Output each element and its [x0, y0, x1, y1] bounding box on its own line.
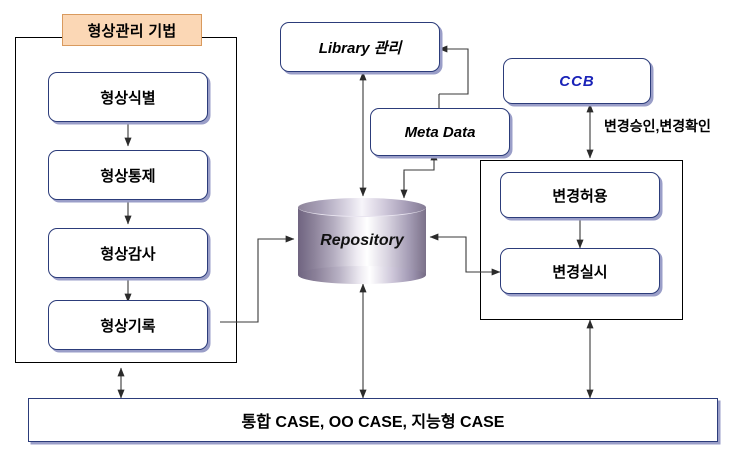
step-box-audit[interactable]: 형상감사 — [48, 228, 208, 278]
meta-data-label: Meta Data — [405, 124, 476, 141]
case-tools-label: 통합 CASE, OO CASE, 지능형 CASE — [242, 408, 505, 432]
change-step-label: 변경실시 — [552, 261, 607, 282]
step-label: 형상통제 — [100, 165, 155, 186]
change-allow-box[interactable]: 변경허용 — [500, 172, 660, 218]
meta-data-box[interactable]: Meta Data — [370, 108, 510, 156]
step-box-identify[interactable]: 형상식별 — [48, 72, 208, 122]
library-label: Library 관리 — [319, 37, 402, 58]
group-title-label: 형상관리 기법 — [87, 20, 176, 41]
repository-cylinder[interactable]: Repository — [298, 198, 426, 284]
step-label: 형상식별 — [100, 87, 155, 108]
arrow-metadata-to-library — [439, 49, 468, 94]
ccb-edge-label: 변경승인,변경확인 — [604, 116, 711, 136]
ccb-box[interactable]: CCB — [503, 58, 651, 104]
repository-label: Repository — [298, 198, 426, 284]
arrow-repository-to-metadata — [404, 152, 434, 196]
case-tools-bar[interactable]: 통합 CASE, OO CASE, 지능형 CASE — [28, 398, 718, 442]
step-label: 형상감사 — [100, 243, 155, 264]
ccb-label: CCB — [559, 73, 595, 90]
group-title-plate: 형상관리 기법 — [62, 14, 202, 46]
step-box-record[interactable]: 형상기록 — [48, 300, 208, 350]
diagram-canvas: 형상관리 기법 형상식별 형상통제 형상감사 형상기록 Library 관리 M… — [0, 0, 753, 455]
library-management-box[interactable]: Library 관리 — [280, 22, 440, 72]
change-step-label: 변경허용 — [552, 185, 607, 206]
change-execute-box[interactable]: 변경실시 — [500, 248, 660, 294]
step-box-control[interactable]: 형상통제 — [48, 150, 208, 200]
step-label: 형상기록 — [100, 315, 155, 336]
